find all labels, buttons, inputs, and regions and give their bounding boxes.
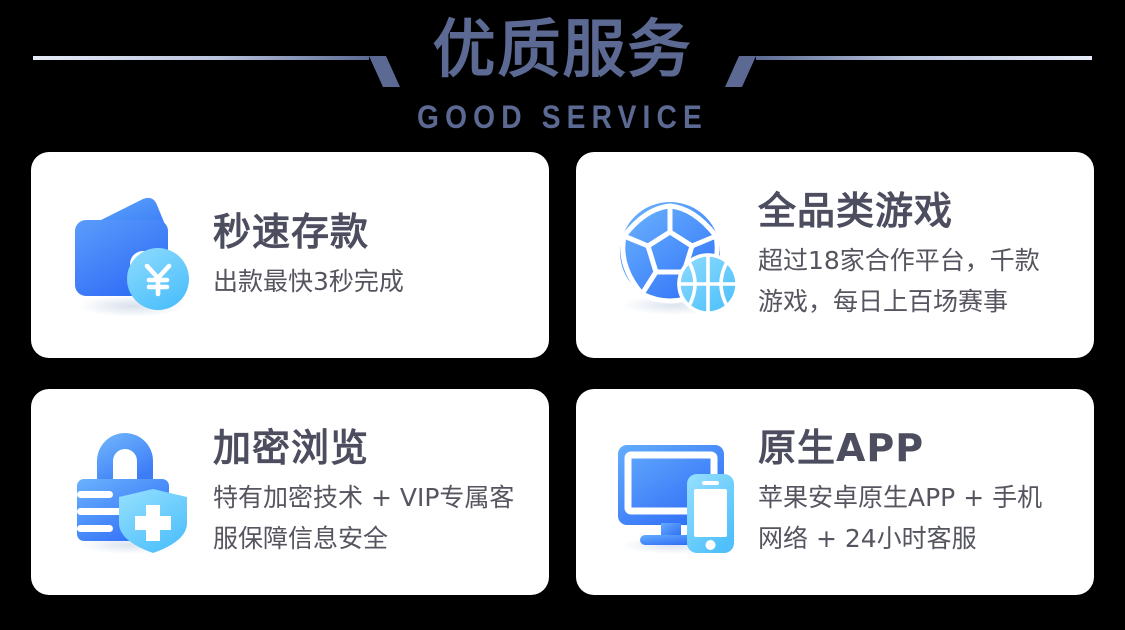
feature-card-grid: 秒速存款 出款最快3秒完成 <box>31 152 1094 595</box>
card-subtitle-line: 游戏，每日上百场赛事 <box>758 281 1084 322</box>
card-subtitle-line: 特有加密技术 + VIP专属客 <box>213 477 539 518</box>
lock-shield-icon <box>57 417 207 567</box>
card-subtitle-line: 超过18家合作平台，千款 <box>758 240 1084 281</box>
wallet-yen-icon <box>57 180 207 330</box>
card-text-block: 秒速存款 出款最快3秒完成 <box>207 209 549 302</box>
card-title: 加密浏览 <box>213 425 539 471</box>
page-subtitle: GOOD SERVICE <box>68 99 1058 135</box>
card-text-block: 全品类游戏 超过18家合作平台，千款 游戏，每日上百场赛事 <box>752 188 1094 322</box>
card-subtitle-line: 服保障信息安全 <box>213 518 539 559</box>
card-text-block: 加密浏览 特有加密技术 + VIP专属客 服保障信息安全 <box>207 425 549 559</box>
feature-card-native-app[interactable]: 原生APP 苹果安卓原生APP + 手机 网络 + 24小时客服 <box>576 389 1094 595</box>
card-subtitle-line: 出款最快3秒完成 <box>213 261 539 302</box>
card-title: 原生APP <box>758 425 1084 471</box>
card-subtitle-line: 苹果安卓原生APP + 手机 <box>758 477 1084 518</box>
card-text-block: 原生APP 苹果安卓原生APP + 手机 网络 + 24小时客服 <box>752 425 1094 559</box>
card-title: 秒速存款 <box>213 209 539 255</box>
feature-card-encrypted-browsing[interactable]: 加密浏览 特有加密技术 + VIP专属客 服保障信息安全 <box>31 389 549 595</box>
soccer-basketball-icon <box>602 180 752 330</box>
page-title: 优质服务 <box>0 14 1125 86</box>
card-title: 全品类游戏 <box>758 188 1084 234</box>
feature-card-all-category-games[interactable]: 全品类游戏 超过18家合作平台，千款 游戏，每日上百场赛事 <box>576 152 1094 358</box>
feature-card-instant-deposit[interactable]: 秒速存款 出款最快3秒完成 <box>31 152 549 358</box>
monitor-phone-icon <box>602 417 752 567</box>
card-subtitle-line: 网络 + 24小时客服 <box>758 518 1084 559</box>
page-header: 优质服务 GOOD SERVICE <box>0 0 1125 150</box>
